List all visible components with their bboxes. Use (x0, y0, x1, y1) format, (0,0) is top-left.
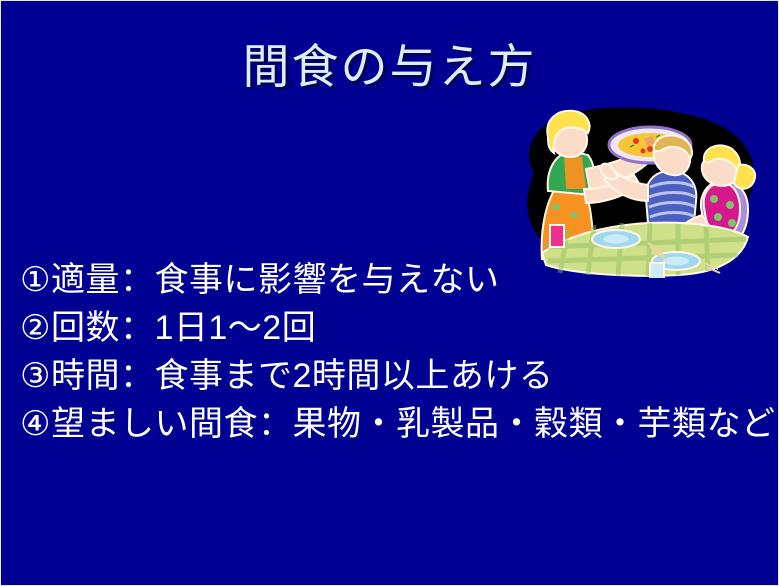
girl-ponytail (734, 165, 755, 189)
bullet-line-4: ④望ましい間食：果物・乳製品・穀類・芋類など (20, 400, 760, 448)
family-eating-at-table-illustration (498, 103, 770, 278)
bullet-line-2: ②回数：1日1〜2回 (20, 304, 760, 352)
presentation-slide: 間食の与え方 (0, 0, 779, 586)
page-title: 間食の与え方 (0, 38, 779, 96)
bullet-list: ①適量：食事に影響を与えない ②回数：1日1〜2回 ③時間：食事まで2時間以上あ… (20, 256, 760, 448)
cup-pink (550, 225, 564, 247)
table-plate-left-inner (603, 235, 629, 244)
bullet-line-3: ③時間：食事まで2時間以上あける (20, 352, 760, 400)
bullet-line-1: ①適量：食事に影響を与えない (20, 256, 760, 304)
